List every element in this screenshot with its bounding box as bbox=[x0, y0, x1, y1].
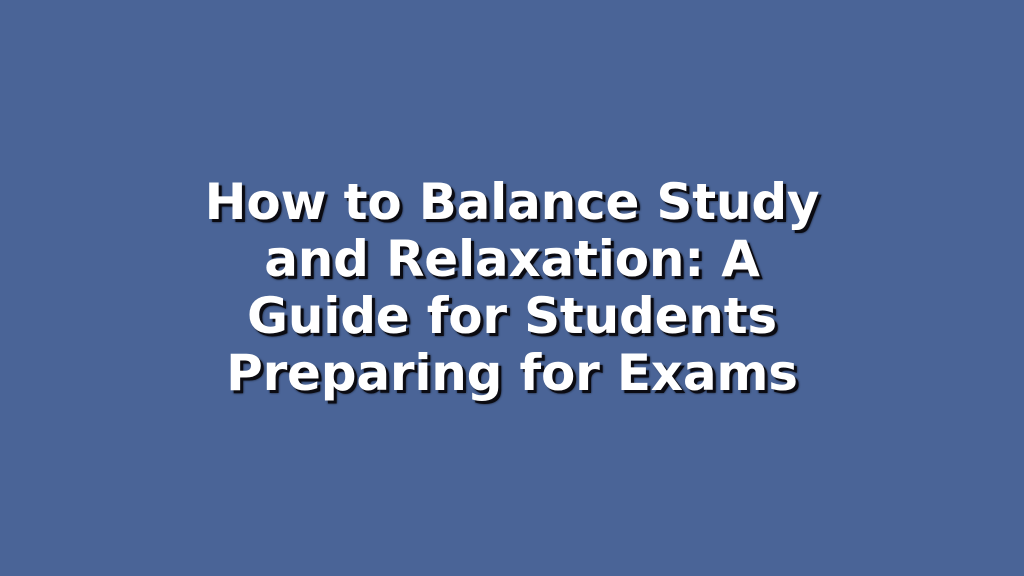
title-card: How to Balance Study and Relaxation: A G… bbox=[0, 0, 1024, 576]
title-line-4: Preparing for Exams bbox=[226, 345, 798, 402]
title-line-1: How to Balance Study bbox=[205, 174, 820, 231]
page-title: How to Balance Study and Relaxation: A G… bbox=[162, 174, 862, 402]
title-line-2: and Relaxation: A bbox=[264, 231, 760, 288]
title-line-3: Guide for Students bbox=[247, 288, 777, 345]
